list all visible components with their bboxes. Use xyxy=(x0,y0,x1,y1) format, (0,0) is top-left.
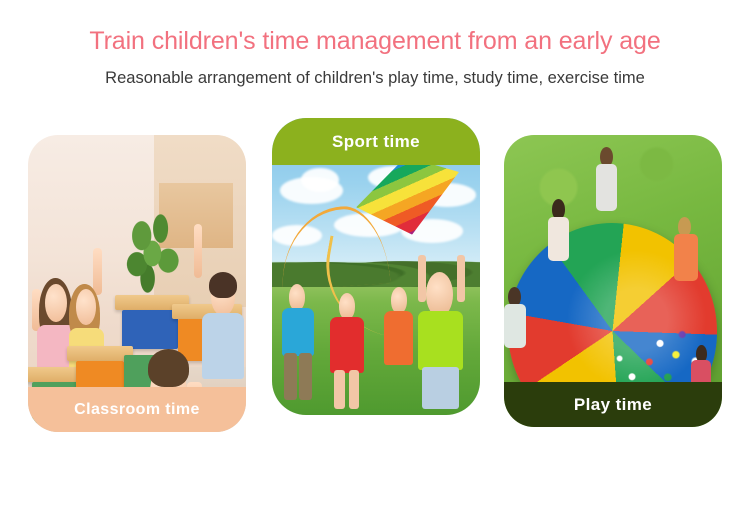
card-sport-time[interactable]: Sport time xyxy=(272,118,480,415)
page-title: Train children's time management from an… xyxy=(0,0,750,56)
card-sport-label: Sport time xyxy=(272,118,480,165)
card-play-label: Play time xyxy=(504,382,722,427)
cards-row: Classroom time xyxy=(0,110,750,450)
page-header: Train children's time management from an… xyxy=(0,0,750,110)
page-subtitle: Reasonable arrangement of children's pla… xyxy=(0,56,750,87)
card-classroom-time[interactable]: Classroom time xyxy=(28,135,246,432)
card-play-time[interactable]: Play time xyxy=(504,135,722,427)
card-classroom-label: Classroom time xyxy=(28,387,246,432)
